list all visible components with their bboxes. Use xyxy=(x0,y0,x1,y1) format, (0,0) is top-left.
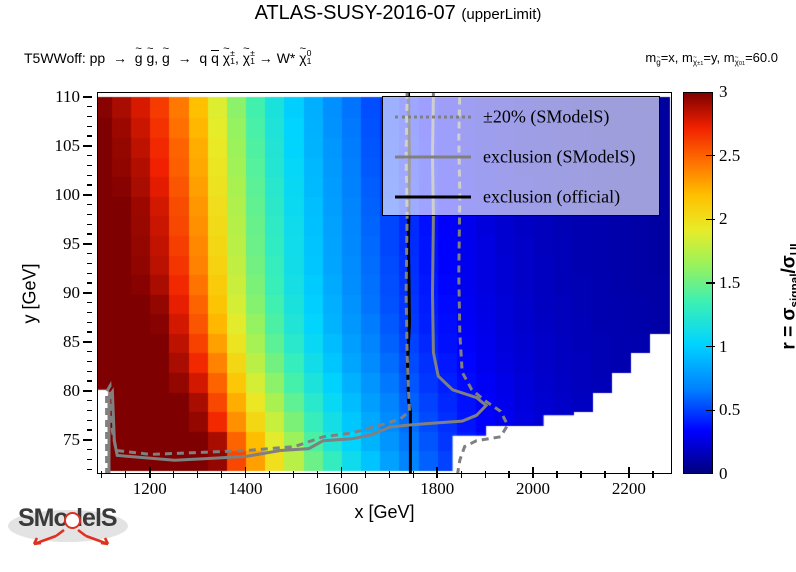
y-tick-label: 75 xyxy=(63,430,80,450)
colorbar-tick-label: 3 xyxy=(719,82,728,102)
y-minor-tick xyxy=(87,371,92,372)
arrow-icon-3: → xyxy=(259,50,273,66)
mass-parameters: m~g=x, m~χ±1=y, m~χ01=60.0 xyxy=(645,50,778,67)
colorbar-tick-label: 2 xyxy=(719,209,728,229)
y-minor-tick xyxy=(87,410,92,411)
title-dataset-id: ATLAS-SUSY-2016-07 xyxy=(255,2,456,24)
colorbar-tick-mark xyxy=(706,410,715,412)
mass-neutralino-label: m xyxy=(724,50,735,65)
legend-label-official: exclusion (official) xyxy=(483,187,620,208)
colorbar-tick-label: 0.5 xyxy=(719,400,740,420)
colorbar-title-r: r = xyxy=(778,321,796,350)
chargino-2: ~χ xyxy=(243,50,250,66)
y-tick-mark xyxy=(83,390,92,392)
y-minor-tick xyxy=(87,155,92,156)
legend-item-0: ±20% (SModelS) xyxy=(383,97,659,137)
y-minor-tick xyxy=(87,420,92,421)
x-tick-mark xyxy=(149,467,151,478)
gluino-3: ~g xyxy=(162,50,170,66)
colorbar-tick-label: 2.5 xyxy=(719,146,740,166)
legend-item-1: exclusion (SModelS) xyxy=(383,137,659,177)
colorbar-labels: 00.511.522.53 xyxy=(715,92,755,474)
watermark-circle-icon xyxy=(64,512,81,529)
y-minor-tick xyxy=(87,224,92,225)
legend-swatch-pm20 xyxy=(395,116,471,119)
colorbar-slash: / xyxy=(778,268,796,273)
y-minor-tick xyxy=(87,106,92,107)
neutralino-indices: 01 xyxy=(307,50,312,66)
x-minor-tick xyxy=(604,471,605,478)
arrow-icon-2: → xyxy=(178,50,192,66)
comma-2: , xyxy=(235,50,239,66)
x-minor-tick xyxy=(485,471,486,478)
y-minor-tick xyxy=(87,380,92,381)
y-minor-tick xyxy=(87,204,92,205)
chargino-1: ~χ xyxy=(223,50,230,66)
title-qualifier: (upperLimit) xyxy=(461,6,541,23)
legend-box: ±20% (SModelS) exclusion (SModelS) exclu… xyxy=(382,96,660,216)
colorbar-sub-signal: signal xyxy=(789,274,796,308)
y-minor-tick xyxy=(87,351,92,352)
x-minor-tick xyxy=(580,471,581,478)
y-minor-tick xyxy=(87,459,92,460)
x-minor-tick xyxy=(293,471,294,478)
y-minor-tick xyxy=(87,273,92,274)
colorbar-tick-label: 1.5 xyxy=(719,273,740,293)
colorbar-tick-mark xyxy=(706,282,715,284)
x-tick-label: 1800 xyxy=(420,479,454,499)
y-tick-mark xyxy=(83,194,92,196)
y-tick-label: 105 xyxy=(55,136,81,156)
colorbar-sigma-ul: σ xyxy=(778,255,796,268)
x-minor-tick xyxy=(317,471,318,478)
x-minor-tick xyxy=(269,471,270,478)
y-minor-tick xyxy=(87,233,92,234)
y-axis-labels: 7580859095100105110 xyxy=(0,92,92,474)
y-minor-tick xyxy=(87,175,92,176)
colorbar-tick-mark xyxy=(706,155,715,157)
antiquark: q xyxy=(211,50,219,65)
x-tick-mark xyxy=(245,467,247,478)
y-minor-tick xyxy=(87,116,92,117)
y-minor-tick xyxy=(87,263,92,264)
x-axis-title: x [GeV] xyxy=(97,502,672,523)
y-tick-label: 110 xyxy=(55,87,80,107)
x-tick-mark xyxy=(532,467,534,478)
y-tick-mark xyxy=(83,96,92,98)
gluino-1: ~g xyxy=(135,50,143,66)
x-minor-tick xyxy=(365,471,366,478)
y-minor-tick xyxy=(87,361,92,362)
y-tick-label: 80 xyxy=(63,381,80,401)
comma-1: , xyxy=(154,50,158,66)
x-minor-tick xyxy=(101,471,102,478)
y-tick-label: 100 xyxy=(55,185,81,205)
y-minor-tick xyxy=(87,400,92,401)
y-axis-title: y [GeV] xyxy=(20,204,41,384)
gluino-2: ~g xyxy=(146,50,154,66)
y-minor-tick xyxy=(87,331,92,332)
x-tick-mark xyxy=(436,467,438,478)
y-minor-tick xyxy=(87,165,92,166)
x-minor-tick xyxy=(221,471,222,478)
y-tick-mark xyxy=(83,341,92,343)
y-tick-label: 85 xyxy=(63,332,80,352)
chargino-2-indices: ±1 xyxy=(250,50,255,66)
y-minor-tick xyxy=(87,126,92,127)
colorbar-tick-label: 0 xyxy=(719,464,728,484)
y-tick-label: 95 xyxy=(63,234,80,254)
x-tick-label: 1400 xyxy=(229,479,263,499)
x-minor-tick xyxy=(197,471,198,478)
quark: q xyxy=(199,50,207,66)
colorbar-tick-mark xyxy=(706,219,715,221)
y-tick-mark xyxy=(83,145,92,147)
x-minor-tick xyxy=(508,471,509,478)
y-tick-mark xyxy=(83,292,92,294)
colorbar-sigma-signal: σ xyxy=(778,308,796,321)
y-tick-label: 90 xyxy=(63,283,80,303)
mass-chargino-value: =y, xyxy=(703,50,720,65)
legend-label-smodels: exclusion (SModelS) xyxy=(483,147,636,168)
arrow-icon-1: → xyxy=(113,50,127,66)
y-minor-tick xyxy=(87,302,92,303)
legend-swatch-smodels xyxy=(395,156,471,159)
y-minor-tick xyxy=(87,469,92,470)
colorbar-tick-label: 1 xyxy=(719,337,728,357)
heatmap-plot-area: ±20% (SModelS) exclusion (SModelS) exclu… xyxy=(97,92,672,474)
colorbar-sub-ul: UL xyxy=(789,240,796,256)
legend-label-pm20: ±20% (SModelS) xyxy=(483,107,609,128)
y-minor-tick xyxy=(87,253,92,254)
process-prefix: T5WWoff: pp xyxy=(24,50,105,66)
x-minor-tick xyxy=(173,471,174,478)
x-tick-mark xyxy=(341,467,343,478)
y-minor-tick xyxy=(87,449,92,450)
y-tick-mark xyxy=(83,243,92,245)
process-description: T5WWoff: pp → ~g ~g, ~g → q q ~χ±1, ~χ±1… xyxy=(24,50,311,66)
y-tick-mark xyxy=(83,439,92,441)
y-minor-tick xyxy=(87,322,92,323)
y-minor-tick xyxy=(87,282,92,283)
smodels-watermark: SModelS xyxy=(4,500,134,562)
x-tick-label: 2000 xyxy=(516,479,550,499)
w-boson: W* xyxy=(277,50,296,66)
mass-gluino-label: m xyxy=(645,50,656,65)
y-minor-tick xyxy=(87,214,92,215)
y-minor-tick xyxy=(87,184,92,185)
colorbar-title: r = σsignal/σUL xyxy=(778,165,796,425)
y-minor-tick xyxy=(87,135,92,136)
x-tick-label: 1200 xyxy=(133,479,167,499)
y-minor-tick xyxy=(87,429,92,430)
mass-neutralino-value: =60.0 xyxy=(745,50,778,65)
x-tick-mark xyxy=(628,467,630,478)
colorbar-tick-mark xyxy=(706,346,715,348)
curve--20-smodels- xyxy=(107,93,410,474)
page-title: ATLAS-SUSY-2016-07 (upperLimit) xyxy=(0,2,796,25)
legend-swatch-official xyxy=(395,196,471,199)
x-minor-tick xyxy=(556,471,557,478)
x-minor-tick xyxy=(389,471,390,478)
x-minor-tick xyxy=(652,471,653,478)
x-tick-label: 2200 xyxy=(612,479,646,499)
x-minor-tick xyxy=(461,471,462,478)
x-minor-tick xyxy=(413,471,414,478)
mass-gluino-value: =x, xyxy=(661,50,679,65)
neutralino: ~χ xyxy=(299,50,306,66)
y-minor-tick xyxy=(87,312,92,313)
legend-item-2: exclusion (official) xyxy=(383,177,659,217)
x-minor-tick xyxy=(125,471,126,478)
x-tick-label: 1600 xyxy=(324,479,358,499)
mass-chargino-label: m xyxy=(682,50,693,65)
